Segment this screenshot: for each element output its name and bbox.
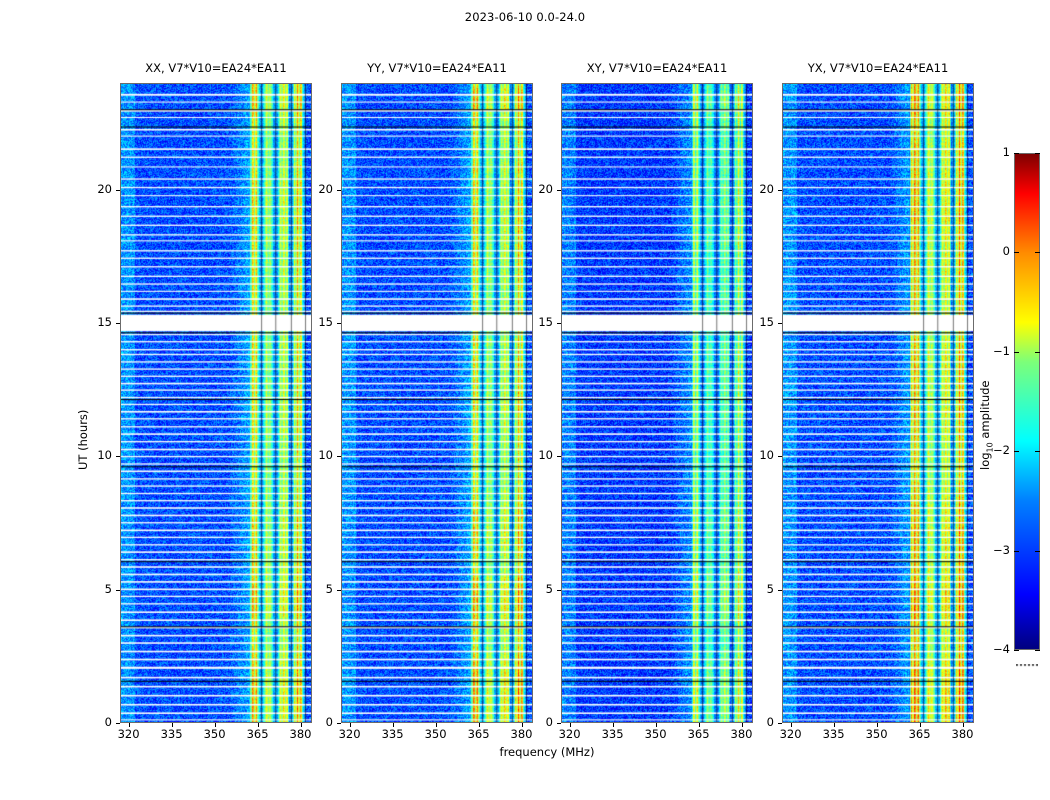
colorbar-tick [1014, 551, 1019, 552]
colorbar-tick [1035, 451, 1040, 452]
colorbar[interactable] [1014, 153, 1040, 650]
panel-title-yy: YY, V7*V10=EA24*EA11 [341, 60, 533, 76]
colorbar-tick-label: −1 [976, 344, 1010, 358]
x-tick-label: 335 [593, 727, 633, 741]
colorbar-tick [1035, 153, 1040, 154]
y-tick [557, 323, 561, 324]
colorbar-tick [1035, 252, 1040, 253]
x-tick-label: 335 [152, 727, 192, 741]
waterfall-panel-yx[interactable] [782, 83, 974, 723]
y-tick-label: 15 [519, 315, 553, 329]
colorbar-tick [1014, 252, 1019, 253]
colorbar-tick [1014, 451, 1019, 452]
y-tick-label: 20 [299, 182, 333, 196]
x-axis-label: frequency (MHz) [120, 745, 974, 759]
y-tick [116, 456, 120, 457]
y-tick [557, 590, 561, 591]
y-tick [116, 590, 120, 591]
x-tick-label: 335 [814, 727, 854, 741]
figure-canvas: 2023-06-10 0.0-24.0 XX, V7*V10=EA24*EA11… [0, 0, 1050, 800]
y-tick [557, 723, 561, 724]
x-tick-label: 335 [373, 727, 413, 741]
panel-title-xx: XX, V7*V10=EA24*EA11 [120, 60, 312, 76]
y-tick [778, 323, 782, 324]
x-tick-label: 365 [238, 727, 278, 741]
x-tick-label: 380 [502, 727, 542, 741]
x-tick-label: 320 [330, 727, 370, 741]
x-tick-label: 365 [900, 727, 940, 741]
colorbar-tick-label: −2 [976, 443, 1010, 457]
y-tick [557, 456, 561, 457]
y-tick [337, 723, 341, 724]
y-tick [337, 456, 341, 457]
y-tick [778, 723, 782, 724]
x-tick-label: 320 [109, 727, 149, 741]
colorbar-tick [1035, 551, 1040, 552]
colorbar-tick-label: 0 [976, 244, 1010, 258]
colorbar-tick-label: −4 [976, 642, 1010, 656]
y-tick-label: 5 [78, 582, 112, 596]
y-tick [778, 590, 782, 591]
y-tick-label: 0 [519, 715, 553, 729]
y-tick [337, 590, 341, 591]
y-tick-label: 20 [519, 182, 553, 196]
x-tick-label: 350 [636, 727, 676, 741]
x-tick-label: 320 [550, 727, 590, 741]
waterfall-image [121, 84, 311, 722]
waterfall-panel-xx[interactable] [120, 83, 312, 723]
y-tick-label: 10 [740, 448, 774, 462]
y-tick-label: 5 [299, 582, 333, 596]
y-tick [778, 456, 782, 457]
y-tick-label: 15 [299, 315, 333, 329]
waterfall-panel-yy[interactable] [341, 83, 533, 723]
y-tick [337, 323, 341, 324]
y-tick [778, 190, 782, 191]
colorbar-tick [1035, 352, 1040, 353]
waterfall-image [342, 84, 532, 722]
y-axis-label: UT (hours) [76, 410, 90, 470]
y-tick-label: 0 [78, 715, 112, 729]
y-tick-label: 20 [740, 182, 774, 196]
colorbar-tick [1035, 650, 1040, 651]
panel-title-yx: YX, V7*V10=EA24*EA11 [782, 60, 974, 76]
y-tick-label: 5 [740, 582, 774, 596]
x-tick-label: 350 [857, 727, 897, 741]
colorbar-under-marker [1016, 652, 1038, 655]
colorbar-tick [1014, 153, 1019, 154]
figure-suptitle: 2023-06-10 0.0-24.0 [0, 10, 1050, 24]
waterfall-image [562, 84, 752, 722]
y-tick-label: 10 [299, 448, 333, 462]
waterfall-image [783, 84, 973, 722]
panel-title-xy: XY, V7*V10=EA24*EA11 [561, 60, 753, 76]
y-tick-label: 0 [299, 715, 333, 729]
x-tick-label: 350 [195, 727, 235, 741]
y-tick-label: 10 [519, 448, 553, 462]
y-tick [116, 323, 120, 324]
y-tick [337, 190, 341, 191]
x-tick-label: 380 [943, 727, 983, 741]
x-tick-label: 350 [416, 727, 456, 741]
colorbar-tick [1014, 650, 1019, 651]
y-tick [116, 190, 120, 191]
x-tick-label: 380 [722, 727, 762, 741]
x-tick-label: 380 [281, 727, 321, 741]
y-tick [116, 723, 120, 724]
y-tick-label: 5 [519, 582, 553, 596]
colorbar-tick-label: 1 [976, 145, 1010, 159]
colorbar-tick [1014, 352, 1019, 353]
x-tick-label: 320 [771, 727, 811, 741]
y-tick [557, 190, 561, 191]
x-tick-label: 365 [679, 727, 719, 741]
waterfall-panel-xy[interactable] [561, 83, 753, 723]
colorbar-tick-label: −3 [976, 543, 1010, 557]
colorbar-label-tail: amplitude [978, 381, 992, 443]
y-tick-label: 20 [78, 182, 112, 196]
y-tick-label: 15 [78, 315, 112, 329]
y-tick-label: 15 [740, 315, 774, 329]
y-tick-label: 0 [740, 715, 774, 729]
x-tick-label: 365 [459, 727, 499, 741]
